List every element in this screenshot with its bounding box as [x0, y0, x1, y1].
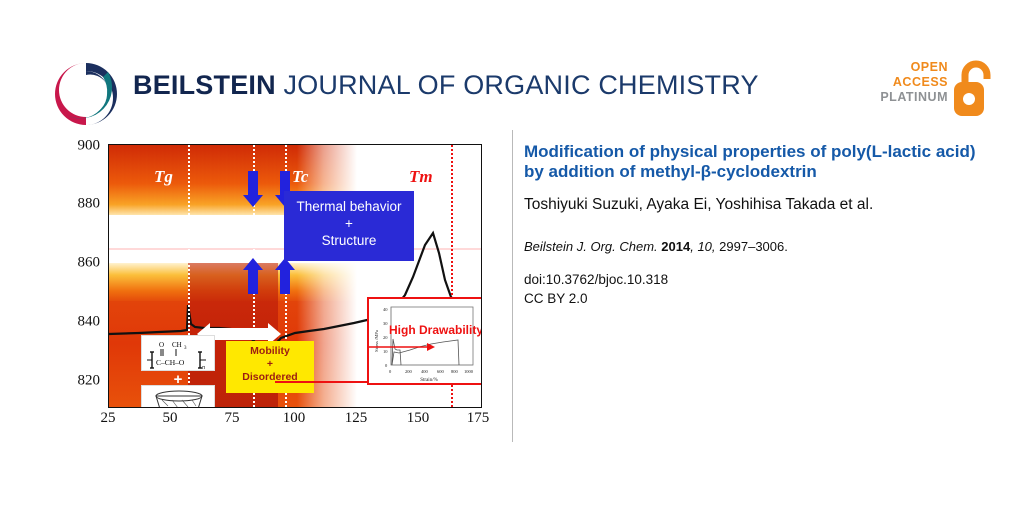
article-title[interactable]: Modification of physical properties of p…: [524, 142, 984, 182]
open-lock-icon: [952, 58, 996, 118]
svg-text:C–CH–O: C–CH–O: [156, 358, 185, 367]
svg-text:O: O: [159, 341, 164, 349]
journal-title-rest: JOURNAL OF ORGANIC CHEMISTRY: [276, 70, 759, 100]
open-access-line1: OPEN: [880, 60, 948, 75]
article-license[interactable]: CC BY 2.0: [524, 289, 984, 308]
svg-text:CH: CH: [172, 341, 182, 349]
x-tick-50: 50: [163, 410, 178, 427]
svg-text:30: 30: [383, 321, 388, 326]
y-tick-900: 900: [78, 138, 101, 155]
x-tick-25: 25: [101, 410, 116, 427]
mobility-line1: Mobility: [230, 345, 310, 358]
x-tick-150: 150: [407, 410, 430, 427]
article-authors: Toshiyuki Suzuki, Ayaka Ei, Yoshihisa Ta…: [524, 195, 984, 215]
x-tick-75: 75: [225, 410, 240, 427]
article-metadata: Modification of physical properties of p…: [524, 142, 984, 308]
svg-text:10: 10: [383, 349, 388, 354]
y-axis-labels: 900 880 860 840 820: [48, 138, 106, 412]
citation-pages: 2997–3006.: [719, 239, 788, 254]
high-drawability-label: High Drawability: [389, 323, 482, 337]
svg-text:40: 40: [383, 307, 388, 312]
beilstein-swirl-logo: [50, 58, 122, 130]
y-tick-820: 820: [78, 373, 101, 390]
svg-text:Stress /MPa: Stress /MPa: [374, 330, 379, 352]
svg-text:200: 200: [405, 369, 413, 374]
article-doi[interactable]: doi:10.3762/bjoc.10.318: [524, 270, 984, 289]
tg-label: Tg: [154, 167, 173, 187]
x-axis-labels: 25 50 75 100 125 150 175: [108, 410, 480, 436]
y-tick-860: 860: [78, 255, 101, 272]
mobility-plus: +: [230, 358, 310, 371]
y-tick-840: 840: [78, 314, 101, 331]
thermal-behavior-line2: Structure: [292, 232, 406, 249]
open-access-line2: ACCESS: [880, 75, 948, 90]
tc-label: Tc: [292, 167, 308, 187]
svg-text:600: 600: [437, 369, 445, 374]
main-plot-area: Tg Tc Tm Thermal behavior: [108, 144, 482, 408]
x-tick-125: 125: [345, 410, 368, 427]
open-access-words: OPEN ACCESS PLATINUM: [880, 60, 948, 105]
citation-journal: Beilstein J. Org. Chem.: [524, 239, 658, 254]
y-tick-880: 880: [78, 196, 101, 213]
plla-structure-inset: O CH 3 C–CH–O n: [141, 335, 215, 371]
svg-text:0: 0: [389, 369, 392, 374]
citation-year: 2014: [661, 239, 690, 254]
thermal-behavior-line1: Thermal behavior: [292, 198, 406, 215]
journal-title: BEILSTEIN JOURNAL OF ORGANIC CHEMISTRY: [133, 70, 759, 101]
journal-title-bold: BEILSTEIN: [133, 70, 276, 100]
mobility-box: Mobility + Disordered: [226, 341, 314, 393]
svg-text:0: 0: [385, 363, 388, 368]
x-tick-100: 100: [283, 410, 306, 427]
citation-volume: 10: [697, 239, 711, 254]
open-access-badge: OPEN ACCESS PLATINUM: [878, 56, 996, 122]
inset-connector-line: [275, 381, 369, 383]
high-drawability-inset: 01020 3040 0200400 6008001000 Stress /MP…: [367, 297, 482, 385]
column-divider: [512, 130, 513, 442]
open-access-line3: PLATINUM: [880, 90, 948, 105]
thermal-behavior-box: Thermal behavior + Structure: [284, 191, 414, 261]
article-citation: Beilstein J. Org. Chem. 2014, 10, 2997–3…: [524, 239, 984, 254]
svg-text:800: 800: [451, 369, 459, 374]
thermal-behavior-plus: +: [292, 215, 406, 232]
page-header: BEILSTEIN JOURNAL OF ORGANIC CHEMISTRY O…: [0, 0, 1024, 140]
x-tick-175: 175: [467, 410, 490, 427]
svg-text:3: 3: [184, 346, 187, 351]
graphical-abstract-page: BEILSTEIN JOURNAL OF ORGANIC CHEMISTRY O…: [0, 0, 1024, 512]
graphical-abstract-figure: 900 880 860 840 820: [48, 138, 488, 428]
cyclodextrin-structure-inset: [141, 385, 215, 408]
svg-text:1000: 1000: [464, 369, 474, 374]
tm-label: Tm: [409, 167, 433, 187]
svg-text:20: 20: [383, 335, 388, 340]
svg-text:400: 400: [421, 369, 429, 374]
svg-text:Strain/%: Strain/%: [420, 378, 438, 383]
